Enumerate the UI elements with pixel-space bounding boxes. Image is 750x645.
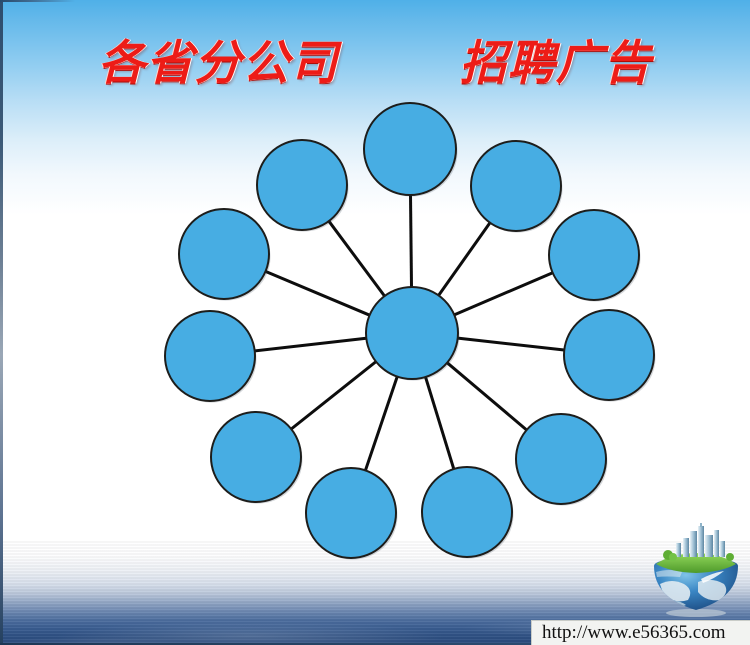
node-right-lower-circle[interactable] (516, 414, 606, 504)
node-right[interactable] (564, 310, 656, 402)
logo-shadow (666, 609, 726, 617)
node-top-left-circle[interactable] (257, 140, 347, 230)
node-top-right[interactable] (471, 141, 563, 233)
node-top-right-circle[interactable] (471, 141, 561, 231)
node-bottom-right-circle[interactable] (422, 467, 512, 557)
spoke-line-node-top-left (328, 220, 385, 297)
hub-and-spoke-diagram (0, 0, 750, 645)
slide-canvas: 各省分公司 招聘广告 (0, 0, 750, 645)
spoke-line-node-right-upper (453, 272, 553, 315)
node-left-lower[interactable] (211, 412, 303, 504)
node-top-circle[interactable] (364, 103, 456, 195)
node-left[interactable] (165, 311, 257, 403)
frame-top-edge (0, 0, 750, 2)
node-left-lower-circle[interactable] (211, 412, 301, 502)
node-left-upper-circle[interactable] (179, 209, 269, 299)
node-bottom-right[interactable] (422, 467, 514, 559)
node-bottom-left[interactable] (306, 468, 398, 560)
node-right-circle[interactable] (564, 310, 654, 400)
center-node[interactable] (366, 287, 460, 381)
globe-city-logo (646, 522, 746, 620)
diagram-nodes (165, 103, 656, 560)
spoke-line-node-right-lower (446, 362, 527, 431)
node-top[interactable] (364, 103, 458, 197)
watermark-url-text: http://www.e56365.com (542, 622, 725, 644)
spoke-line-node-top-right (438, 222, 491, 296)
spoke-line-node-bottom-right (425, 376, 454, 470)
frame-left-edge (0, 0, 3, 645)
spoke-line-node-left-upper (265, 271, 371, 316)
node-top-left[interactable] (257, 140, 349, 232)
watermark-url-box: http://www.e56365.com (531, 620, 750, 645)
spoke-line-node-top (410, 194, 411, 288)
center-node-circle[interactable] (366, 287, 458, 379)
node-right-upper-circle[interactable] (549, 210, 639, 300)
node-right-upper[interactable] (549, 210, 641, 302)
city-skyline (676, 523, 725, 557)
spoke-line-node-left (254, 338, 368, 351)
node-left-upper[interactable] (179, 209, 271, 301)
spoke-line-node-right (457, 338, 566, 350)
page-title: 各省分公司 招聘广告 (0, 36, 750, 92)
spoke-line-node-bottom-left (365, 376, 397, 472)
node-bottom-left-circle[interactable] (306, 468, 396, 558)
node-left-circle[interactable] (165, 311, 255, 401)
spoke-line-node-left-lower (290, 361, 376, 430)
node-right-lower[interactable] (516, 414, 608, 506)
